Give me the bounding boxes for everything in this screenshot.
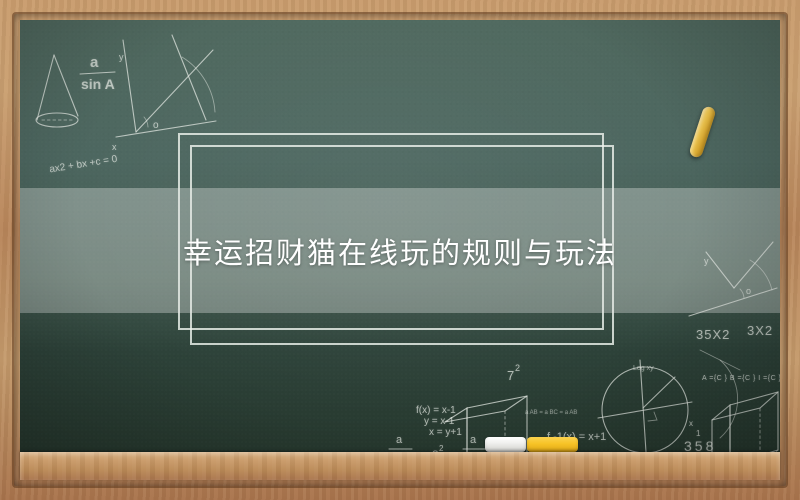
chalkboard-surface: a sin A ax2 + bx +c = 0 y x o y o 35X2 3… xyxy=(20,20,780,480)
white-chalk-tray xyxy=(485,437,526,452)
yellow-chalk-tray xyxy=(527,437,578,452)
chalk-tray xyxy=(20,452,780,480)
board-vignette xyxy=(20,20,780,480)
chalkboard-poster: a sin A ax2 + bx +c = 0 y x o y o 35X2 3… xyxy=(0,0,800,500)
